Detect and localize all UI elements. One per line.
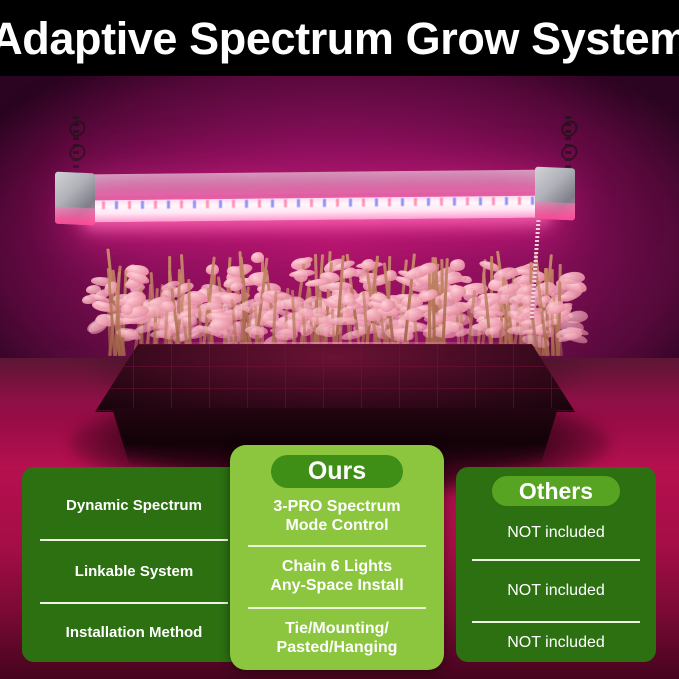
seedling-leaf xyxy=(449,258,466,271)
others-heading-badge: Others xyxy=(492,476,620,506)
title-banner: Adaptive Spectrum Grow System xyxy=(0,0,679,76)
seedling-leaf xyxy=(403,308,422,322)
ours-value-row-1-line-1: Chain 6 Lights xyxy=(282,558,392,577)
ours-value-row-1-line-2: Any-Space Install xyxy=(270,577,403,596)
fixture-endcap-left xyxy=(55,172,95,226)
comparison-table: Dynamic Spectrum Linkable System Install… xyxy=(0,440,679,679)
ours-value-row-0: 3-PRO Spectrum Mode Control xyxy=(230,493,444,541)
fixture-endcap-right xyxy=(535,167,575,221)
seedling-leaf xyxy=(329,317,357,325)
endcap-glow-right xyxy=(535,202,575,221)
ours-heading-badge: Ours xyxy=(271,455,403,488)
ours-value-row-2-line-2: Pasted/Hanging xyxy=(277,639,398,658)
others-value-row-2: NOT included xyxy=(456,623,656,663)
seedling-canopy xyxy=(101,232,569,356)
hanging-chain-left-icon xyxy=(73,114,79,176)
feature-column-card: Dynamic Spectrum Linkable System Install… xyxy=(22,467,246,662)
ours-divider-0 xyxy=(248,545,426,547)
feature-label-row-2: Installation Method xyxy=(22,604,246,662)
light-fixture-body xyxy=(55,169,575,230)
ours-value-row-0-line-1: 3-PRO Spectrum xyxy=(273,498,400,517)
glowing-led-tube xyxy=(89,196,545,223)
seedling-tray xyxy=(95,232,575,472)
others-value-row-1: NOT included xyxy=(456,561,656,621)
ours-divider-1 xyxy=(248,607,426,609)
others-value-row-0: NOT included xyxy=(456,512,656,554)
product-marketing-image: Adaptive Spectrum Grow System xyxy=(0,0,679,679)
seedling-leaf xyxy=(289,269,316,278)
led-grow-light-bar xyxy=(55,114,575,204)
endcap-glow-left xyxy=(55,207,95,226)
feature-label-row-1: Linkable System xyxy=(22,541,246,603)
ours-value-row-2-line-1: Tie/Mounting/ xyxy=(285,620,389,639)
feature-label-row-0: Dynamic Spectrum xyxy=(22,475,246,537)
ours-value-row-0-line-2: Mode Control xyxy=(285,517,388,536)
hanging-chain-right-icon xyxy=(565,114,571,176)
others-column-card: Others NOT included NOT included NOT inc… xyxy=(456,467,656,662)
ours-value-row-2: Tie/Mounting/ Pasted/Hanging xyxy=(230,615,444,663)
page-title: Adaptive Spectrum Grow System xyxy=(0,16,679,61)
tray-cell-grid xyxy=(95,344,575,412)
tray-rim-highlight xyxy=(137,342,533,344)
ours-column-card: Ours 3-PRO Spectrum Mode Control Chain 6… xyxy=(230,445,444,670)
ours-value-row-1: Chain 6 Lights Any-Space Install xyxy=(230,553,444,601)
